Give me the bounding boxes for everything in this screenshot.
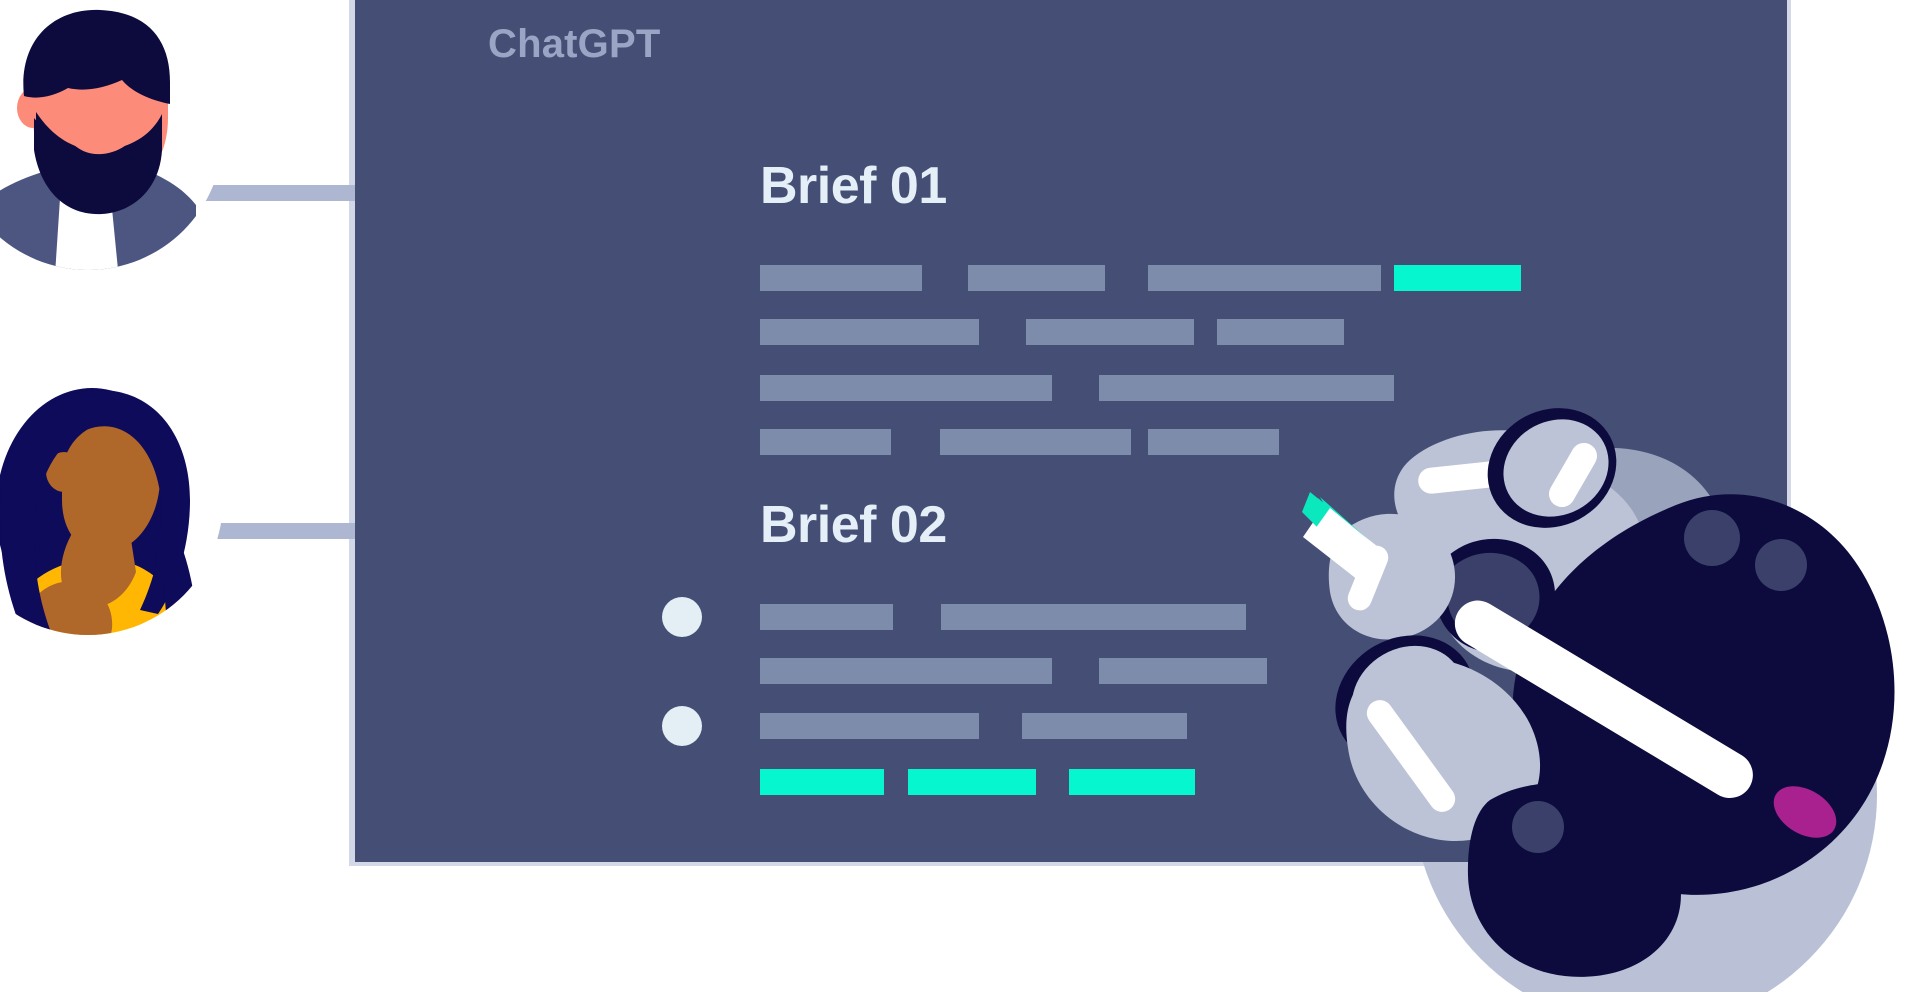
text-bar (760, 429, 891, 455)
text-bar (1099, 375, 1394, 401)
brief-02-heading: Brief 02 (760, 499, 947, 551)
text-bar (760, 265, 922, 291)
text-bar (760, 658, 1052, 684)
text-bar (1022, 713, 1187, 739)
text-bar (760, 319, 979, 345)
text-bar (968, 265, 1105, 291)
avatar-male-user[interactable] (0, 0, 250, 290)
text-bar (1217, 319, 1344, 345)
text-bar (940, 429, 1131, 455)
bullet-dot (662, 706, 702, 746)
text-bar (1099, 658, 1267, 684)
text-bar (941, 604, 1246, 630)
app-title: ChatGPT (488, 24, 661, 64)
text-bar (760, 375, 1052, 401)
illustration-stage (0, 0, 1920, 992)
text-bar (1148, 429, 1279, 455)
text-bar (760, 713, 979, 739)
text-bar (1026, 319, 1194, 345)
highlight-bar (1069, 769, 1195, 795)
text-bar (1148, 265, 1381, 291)
highlight-bar (760, 769, 884, 795)
robot-hand-holding-stylus (355, 0, 1895, 992)
text-bar (760, 604, 893, 630)
highlight-bar (1394, 265, 1521, 291)
avatar-female-user[interactable] (0, 355, 250, 658)
highlight-bar (908, 769, 1036, 795)
brief-01-heading: Brief 01 (760, 160, 947, 212)
bullet-dot (662, 597, 702, 637)
